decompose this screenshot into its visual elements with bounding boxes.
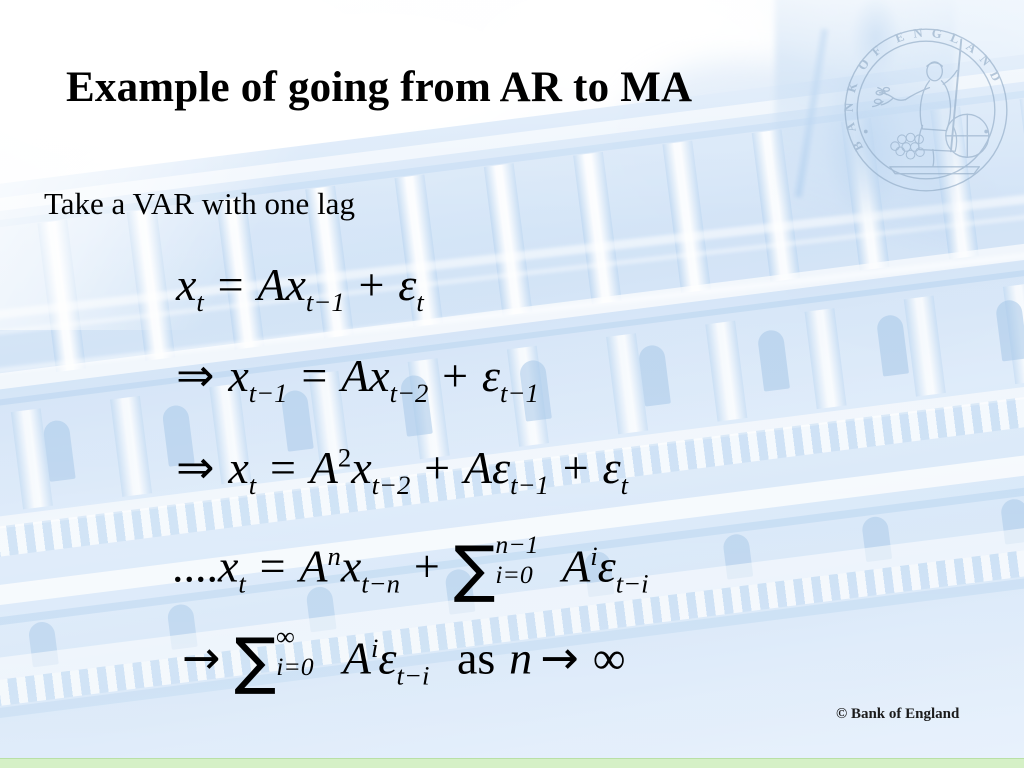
eq1-rhs-sub: t−1 [306, 287, 345, 317]
eq4-lhs-var: x [218, 540, 238, 591]
eq5-sum-lower-limit: i=0 [276, 654, 313, 680]
eq3-lhs-var: x [228, 442, 248, 493]
eq3-matrix: A [310, 442, 338, 493]
eq4-sum-lower-limit: i=0 [495, 562, 532, 588]
equation-4: ....xt=Anxt−n+∑n−1i=0Aiεt−i [172, 538, 649, 600]
eq4-ellipsis: .... [172, 540, 218, 591]
eq1-rhs-var: x [286, 259, 306, 310]
page-title: Example of going from AR to MA [66, 64, 826, 111]
eq5-n-var: n [509, 632, 532, 683]
presentation-slide: B A N K O F E N G L A N D [0, 0, 1024, 768]
slide-subtitle: Take a VAR with one lag [44, 186, 355, 222]
eq5-matrix: A [343, 632, 371, 683]
eq1-plus: + [358, 259, 384, 310]
eq4-rhs-sub: t−n [361, 569, 400, 599]
eq1-lhs-var: x [176, 259, 196, 310]
eq1-lhs-sub: t [196, 287, 203, 317]
eq3-rhs-sub: t−2 [372, 470, 411, 500]
eq2-lhs-var: x [228, 350, 248, 401]
eq3-plus-2: + [563, 442, 589, 493]
eq3-epsilon-2: ε [602, 442, 620, 493]
equation-3: ⇒xt=A2xt−2+Aεt−1+εt [176, 444, 628, 499]
eq2-plus: + [442, 350, 468, 401]
eq5-arrow-icon: → [182, 630, 221, 684]
eq2-rhs-var: x [369, 350, 389, 401]
eq3-plus-1: + [424, 442, 450, 493]
eq5-epsilon-sub: t−i [397, 661, 430, 691]
eq1-equals: = [218, 259, 244, 310]
eq3-epsilon-1: ε [492, 442, 510, 493]
eq5-infinity-icon: ∞ [593, 632, 626, 683]
equation-5: →∑∞i=0Aiεt−iasn→∞ [182, 630, 626, 692]
eq4-matrix-exponent: n [328, 541, 341, 571]
eq2-epsilon: ε [482, 350, 500, 401]
eq1-epsilon-sub: t [416, 287, 423, 317]
eq4-lhs-sub: t [238, 569, 245, 599]
eq4-summation: ∑n−1i=0 [454, 538, 496, 600]
eq5-epsilon: ε [378, 632, 396, 683]
eq3-matrix-exponent: 2 [338, 442, 351, 472]
eq2-equals: = [301, 350, 327, 401]
eq5-as-word: as [457, 632, 495, 683]
eq2-lhs-sub: t−1 [249, 378, 288, 408]
eq2-rhs-sub: t−2 [390, 378, 429, 408]
equation-2: ⇒xt−1=Axt−2+εt−1 [176, 352, 539, 407]
eq3-rhs-var: x [351, 442, 371, 493]
eq3-epsilon-1-sub: t−1 [510, 470, 549, 500]
eq1-epsilon: ε [398, 259, 416, 310]
eq4-plus: + [414, 540, 440, 591]
eq4-matrix-2-exponent: i [590, 541, 597, 571]
eq2-implies-icon: ⇒ [176, 348, 215, 402]
eq4-sigma-icon: ∑ [454, 532, 496, 605]
equation-1: xt=Axt−1+εt [176, 262, 424, 316]
eq4-rhs-var: x [341, 540, 361, 591]
eq3-equals: = [270, 442, 296, 493]
eq4-epsilon: ε [598, 540, 616, 591]
eq4-equals: = [260, 540, 286, 591]
eq5-sum-upper-limit: ∞ [276, 624, 294, 650]
eq5-summation: ∑∞i=0 [234, 630, 276, 692]
eq4-matrix: A [299, 540, 327, 591]
slide-content: Example of going from AR to MA Take a VA… [0, 0, 1024, 768]
eq4-epsilon-sub: t−i [616, 569, 649, 599]
eq3-epsilon-2-sub: t [621, 470, 628, 500]
eq2-epsilon-sub: t−1 [500, 378, 539, 408]
eq3-implies-icon: ⇒ [176, 440, 215, 494]
eq4-matrix-2: A [562, 540, 590, 591]
eq3-matrix-2: A [464, 442, 492, 493]
eq3-lhs-sub: t [249, 470, 256, 500]
eq5-limit-arrow-icon: → [540, 630, 579, 684]
eq5-sigma-icon: ∑ [234, 624, 276, 697]
eq2-matrix: A [341, 350, 369, 401]
eq1-matrix: A [257, 259, 285, 310]
eq4-sum-upper-limit: n−1 [495, 532, 538, 558]
copyright-notice: © Bank of England [836, 706, 959, 723]
